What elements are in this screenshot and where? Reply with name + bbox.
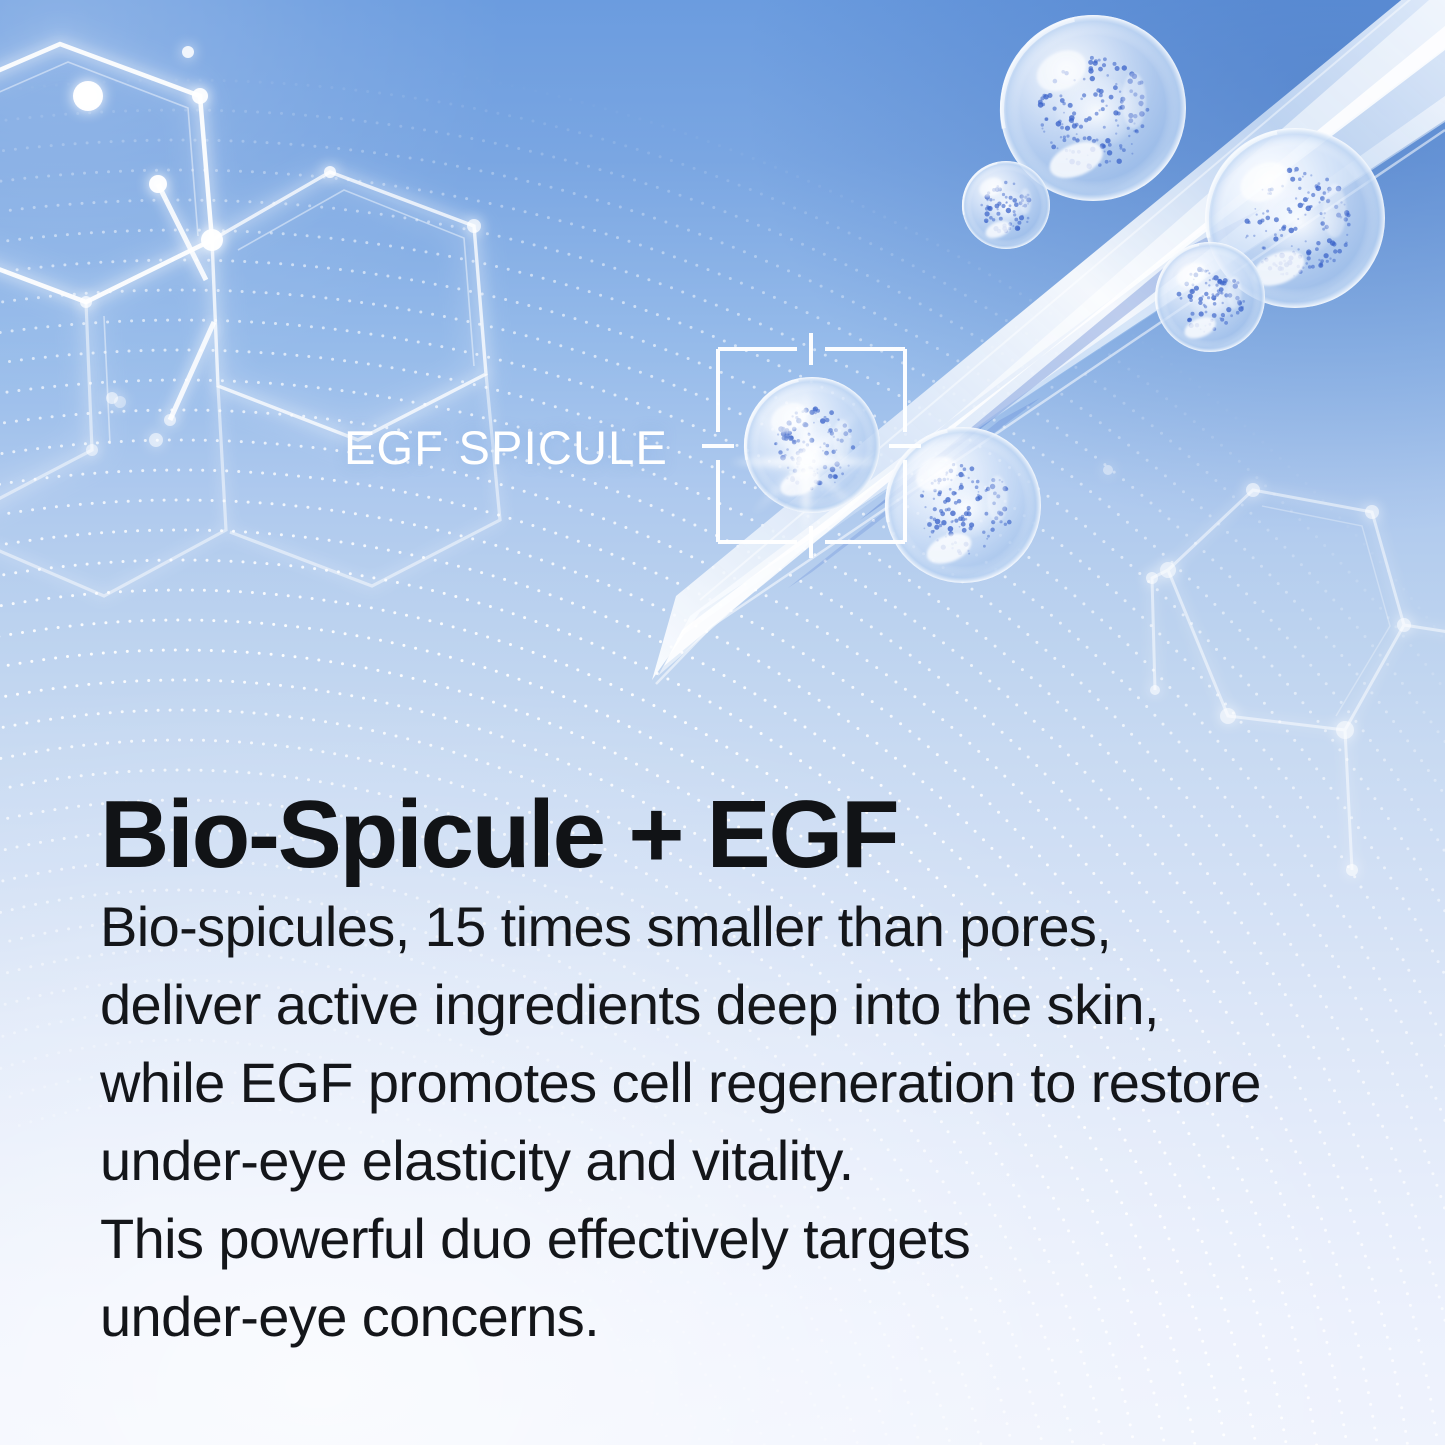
body-copy: Bio-spicules, 15 times smaller than pore… [100, 888, 1360, 1356]
body-line: This powerful duo effectively targets [100, 1200, 1360, 1278]
body-line: under-eye concerns. [100, 1278, 1360, 1356]
body-line: deliver active ingredients deep into the… [100, 966, 1360, 1044]
marketing-image-canvas: EGF SPICULE Bio-Spicule + EGF Bio-spicul… [0, 0, 1445, 1445]
body-line: under-eye elasticity and vitality. [100, 1122, 1360, 1200]
body-line: while EGF promotes cell regeneration to … [100, 1044, 1360, 1122]
egf-spicule-label: EGF SPICULE [344, 424, 668, 471]
body-line: Bio-spicules, 15 times smaller than pore… [100, 888, 1360, 966]
page-title: Bio-Spicule + EGF [100, 782, 897, 888]
